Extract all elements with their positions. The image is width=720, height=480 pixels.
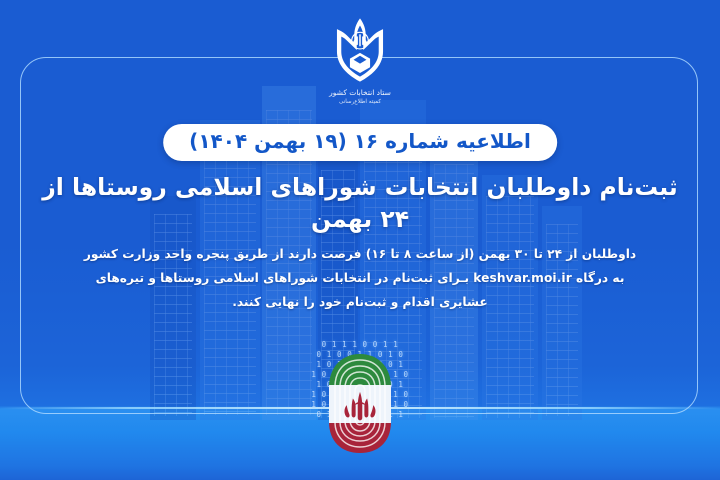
body-line-2: به درگاه keshvar.moi.ir بـرای ثبت‌نام در… — [42, 267, 678, 291]
body-line-2-prefix: به درگاه — [572, 271, 625, 285]
fingerprint-iran-flag-icon — [275, 340, 445, 465]
announcement-number-badge: اطلاعیه شماره ۱۶ (۱۹ بهمن ۱۴۰۴) — [163, 124, 557, 161]
organization-logo: ستاد انتخابات کشور کمیته اطلاع‌رسانی — [0, 14, 720, 107]
election-shield-emblem-icon — [324, 14, 396, 86]
announcement-number-text: اطلاعیه شماره ۱۶ (۱۹ بهمن ۱۴۰۴) — [189, 129, 531, 153]
logo-caption-line2: کمیته اطلاع‌رسانی — [329, 99, 391, 107]
announcement-body: داوطلبان از ۲۴ تا ۳۰ بهمن (از ساعت ۸ تا … — [42, 243, 678, 314]
fingerprint-emblem: 0 1 1 1 0 0 1 1 0 1 0 0 1 1 0 1 0 1 0 1 … — [275, 340, 445, 465]
registration-url: keshvar.moi.ir — [473, 267, 572, 291]
body-line-2-suffix: بـرای ثبت‌نام در انتخابات شوراهای اسلامی… — [96, 271, 474, 285]
body-line-1: داوطلبان از ۲۴ تا ۳۰ بهمن (از ساعت ۸ تا … — [42, 243, 678, 267]
logo-caption-line1: ستاد انتخابات کشور — [329, 88, 391, 97]
body-line-3: عشایری اقدام و ثبت‌نام خود را نهایی کنند… — [42, 291, 678, 315]
page-title: ثبت‌نام داوطلبان انتخابات شوراهای اسلامی… — [30, 172, 690, 235]
logo-caption: ستاد انتخابات کشور کمیته اطلاع‌رسانی — [329, 88, 391, 107]
announcement-poster: ستاد انتخابات کشور کمیته اطلاع‌رسانی اطل… — [0, 0, 720, 480]
